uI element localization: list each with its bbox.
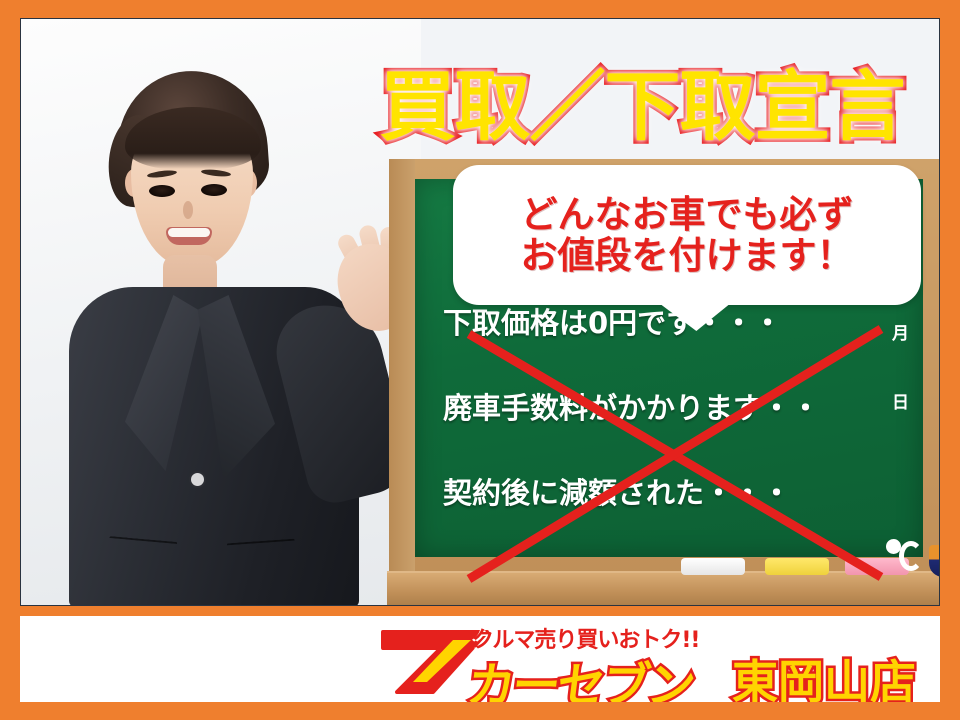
footer-logo-bar: クルマ売り買いおトク!! カーセブン 東岡山店 [20,616,940,702]
brand-name: カーセブン [464,646,698,702]
chalk-ledge [387,571,940,606]
blackboard-line: 廃車手数料がかかります・・ [443,394,873,423]
speech-bubble: どんなお車でも必ず お値段を付けます！ [453,165,921,305]
advertisement-poster: 買取／下取宣言 下取価格は0円です・・・ 廃車手数料がかかります・・ 契約後に減… [0,0,960,720]
speech-bubble-line: どんなお車でも必ず [521,194,854,235]
store-name: 東岡山店 [732,646,916,702]
teeth [168,228,210,237]
page-title: 買取／下取宣言 [317,45,940,155]
speech-bubble-line: お値段を付けます！ [521,235,854,276]
main-panel: 買取／下取宣言 下取価格は0円です・・・ 廃車手数料がかかります・・ 契約後に減… [20,18,940,606]
mouth [166,227,212,245]
date-labels: 月 日 [892,319,909,457]
eye-right [201,184,227,196]
chalk-c-mark [899,541,923,571]
nose [183,201,193,219]
blackboard-text-list: 下取価格は0円です・・・ 廃車手数料がかかります・・ 契約後に減額された・・・ [443,309,873,564]
eye-left [149,185,175,197]
blackboard-line: 下取価格は0円です・・・ [443,309,873,338]
day-label: 日 [892,388,909,413]
month-label: 月 [892,319,909,344]
jacket-button [189,471,206,488]
blackboard-line: 契約後に減額された・・・ [443,479,873,508]
